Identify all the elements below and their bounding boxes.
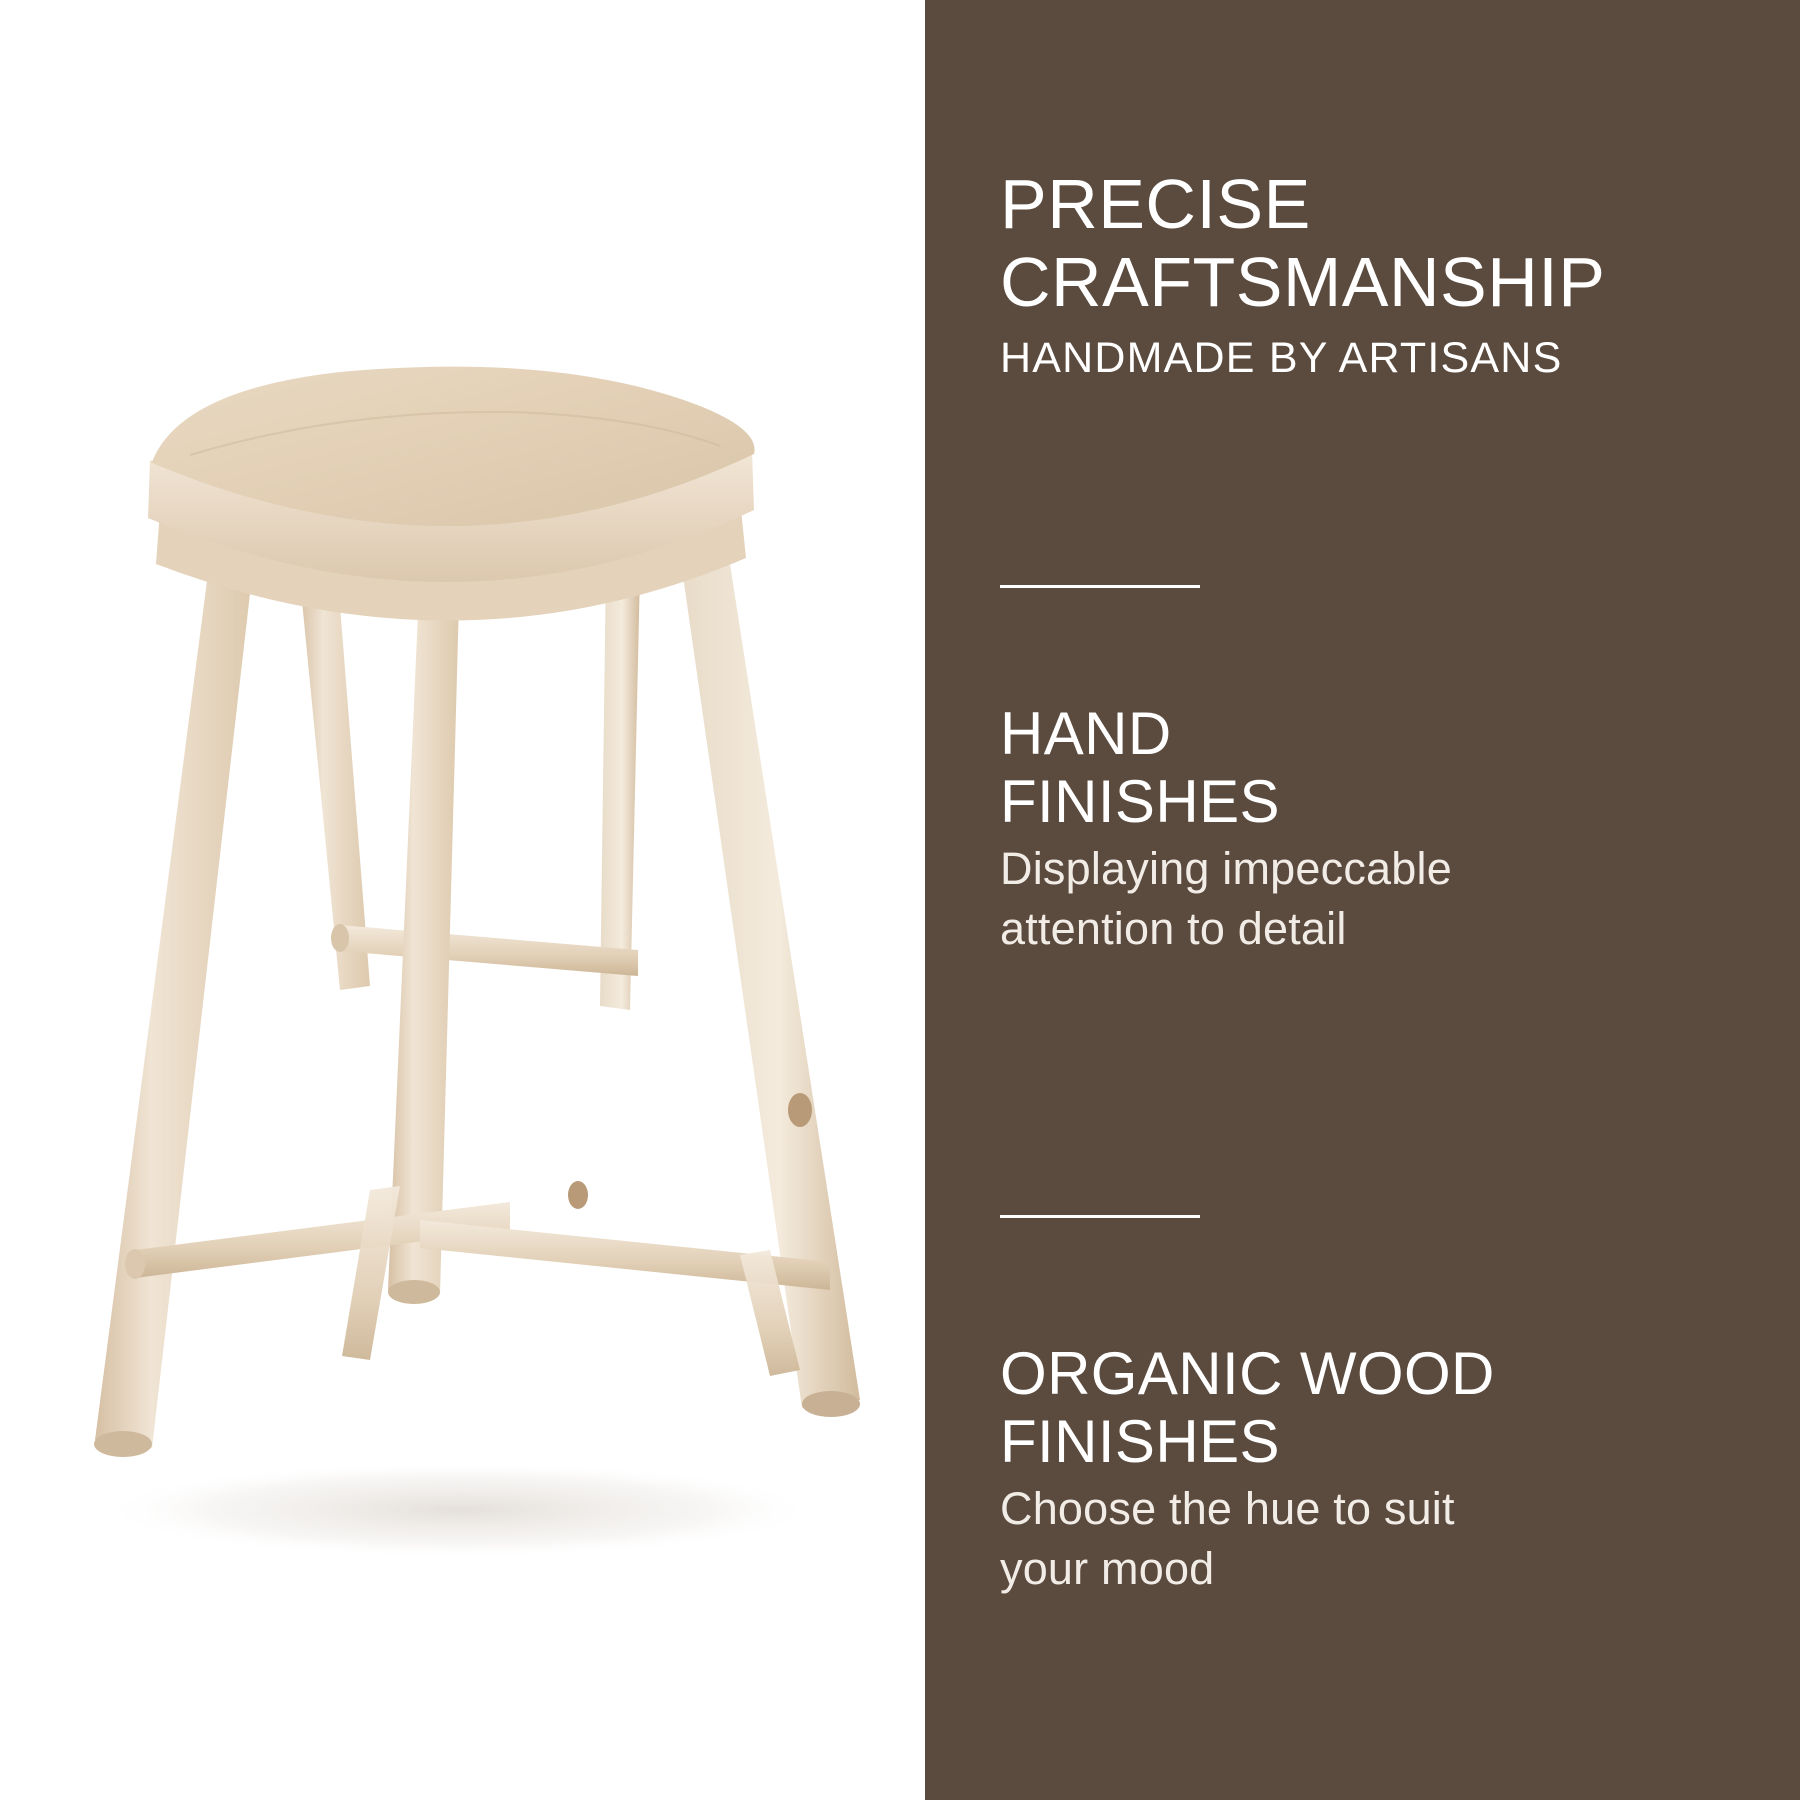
feature-organic-wood-finishes: ORGANIC WOOD FINISHES Choose the hue to … [1000,1340,1740,1597]
stool-leg-center [388,565,460,1294]
feature-1-desc-line-2: attention to detail [1000,902,1740,957]
headline-line-2: CRAFTSMANSHIP [1000,243,1760,321]
divider-top [1000,585,1200,588]
feature-1-title-line-2: FINISHES [1000,768,1740,836]
feature-2-title-line-1: ORGANIC WOOD [1000,1340,1740,1408]
subheadline: HANDMADE BY ARTISANS [1000,334,1760,383]
feature-1-title-line-1: HAND [1000,700,1740,768]
feature-2-desc-line-2: your mood [1000,1542,1740,1597]
stretcher-back [340,925,638,976]
product-image-stool [40,350,920,1600]
copy-panel: PRECISE CRAFTSMANSHIP HANDMADE BY ARTISA… [925,0,1800,1800]
dowel-plug-right [788,1093,812,1127]
dowel-plug-center [568,1181,588,1209]
floor-shadow [100,1462,820,1558]
feature-2-title-line-2: FINISHES [1000,1408,1740,1476]
feature-2-desc-line-1: Choose the hue to suit [1000,1482,1740,1537]
marketing-banner: PRECISE CRAFTSMANSHIP HANDMADE BY ARTISA… [0,0,1800,1800]
stool-leg-back-right [600,565,640,1010]
headline-line-1: PRECISE [1000,165,1760,243]
divider-bottom [1000,1215,1200,1218]
product-photo-panel [0,0,925,1800]
headline-block: PRECISE CRAFTSMANSHIP HANDMADE BY ARTISA… [1000,165,1760,383]
stool-leg-back-left [298,555,370,990]
feature-hand-finishes: HAND FINISHES Displaying impeccable atte… [1000,700,1740,957]
feature-1-desc-line-1: Displaying impeccable [1000,842,1740,897]
stool-leg-front-left [95,550,255,1448]
